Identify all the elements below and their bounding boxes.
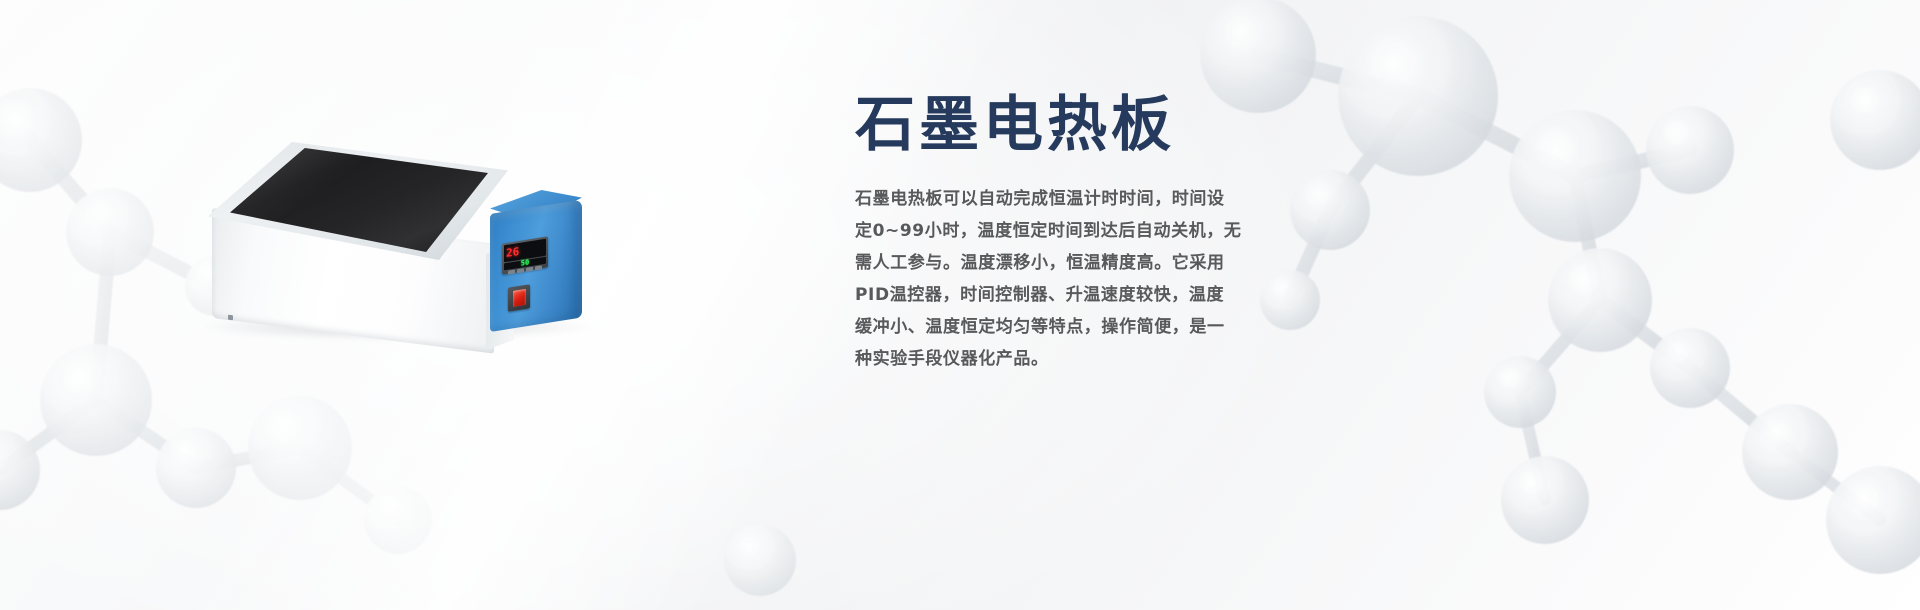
power-switch-rocker bbox=[513, 289, 526, 307]
pv-value: 26 bbox=[506, 246, 519, 259]
description-line: 定0~99小时，温度恒定时间到达后自动关机，无 bbox=[855, 215, 1315, 247]
page-title: 石墨电热板 bbox=[855, 92, 1315, 159]
power-switch bbox=[508, 284, 530, 311]
product-hero-banner: 26 50 石墨电热板 石墨电热板可以自动完成恒温计时时间，时间设 定0~99小… bbox=[0, 0, 1920, 610]
product-image-graphite-hot-plate: 26 50 bbox=[190, 118, 610, 358]
product-foot bbox=[228, 315, 233, 321]
temperature-controller-display: 26 50 bbox=[502, 236, 548, 274]
description-line: 缓冲小、温度恒定均匀等特点，操作简便，是一 bbox=[855, 311, 1315, 343]
hero-copy: 石墨电热板 石墨电热板可以自动完成恒温计时时间，时间设 定0~99小时，温度恒定… bbox=[855, 92, 1315, 375]
description-line: 种实验手段仪器化产品。 bbox=[855, 343, 1315, 375]
description-line: 需人工参与。温度漂移小，恒温精度高。它采用 bbox=[855, 247, 1315, 279]
product-description: 石墨电热板可以自动完成恒温计时时间，时间设 定0~99小时，温度恒定时间到达后自… bbox=[855, 183, 1315, 375]
description-line: PID温控器，时间控制器、升温速度较快，温度 bbox=[855, 279, 1315, 311]
description-line: 石墨电热板可以自动完成恒温计时时间，时间设 bbox=[855, 183, 1315, 215]
